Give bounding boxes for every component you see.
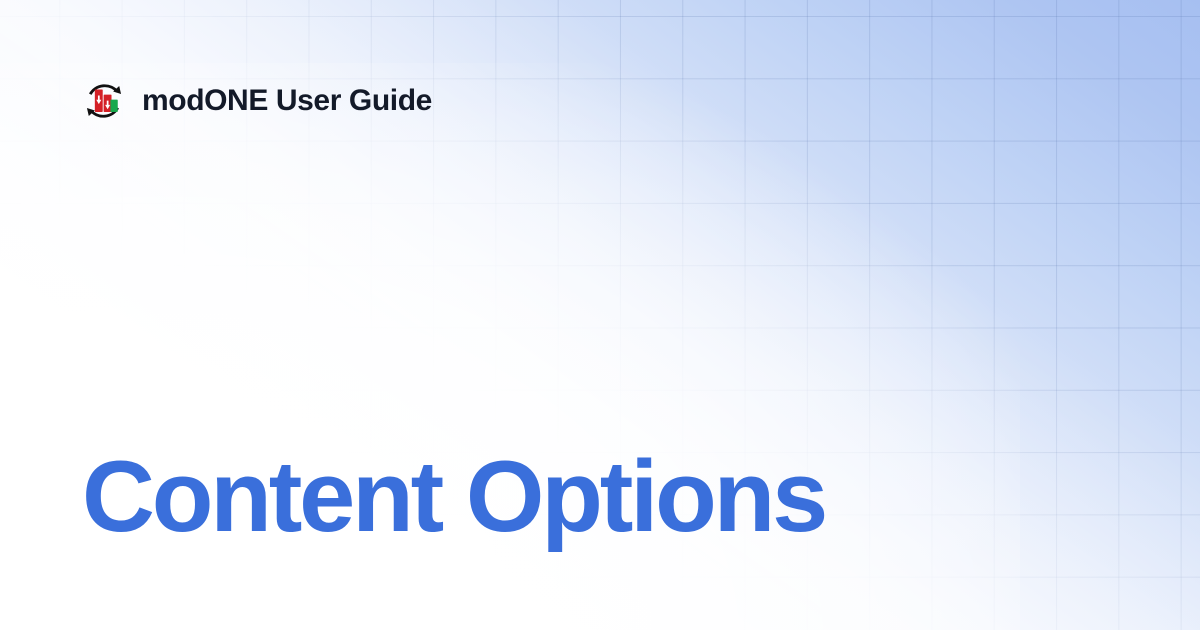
og-card: modONE User Guide Content Options [0, 0, 1200, 630]
brand-name-label: modONE User Guide [142, 86, 432, 116]
page-title: Content Options [82, 444, 825, 550]
recycle-bar-chart-logo-icon [82, 79, 126, 123]
card-content: modONE User Guide Content Options [0, 0, 1200, 630]
brand-header: modONE User Guide [82, 79, 432, 123]
